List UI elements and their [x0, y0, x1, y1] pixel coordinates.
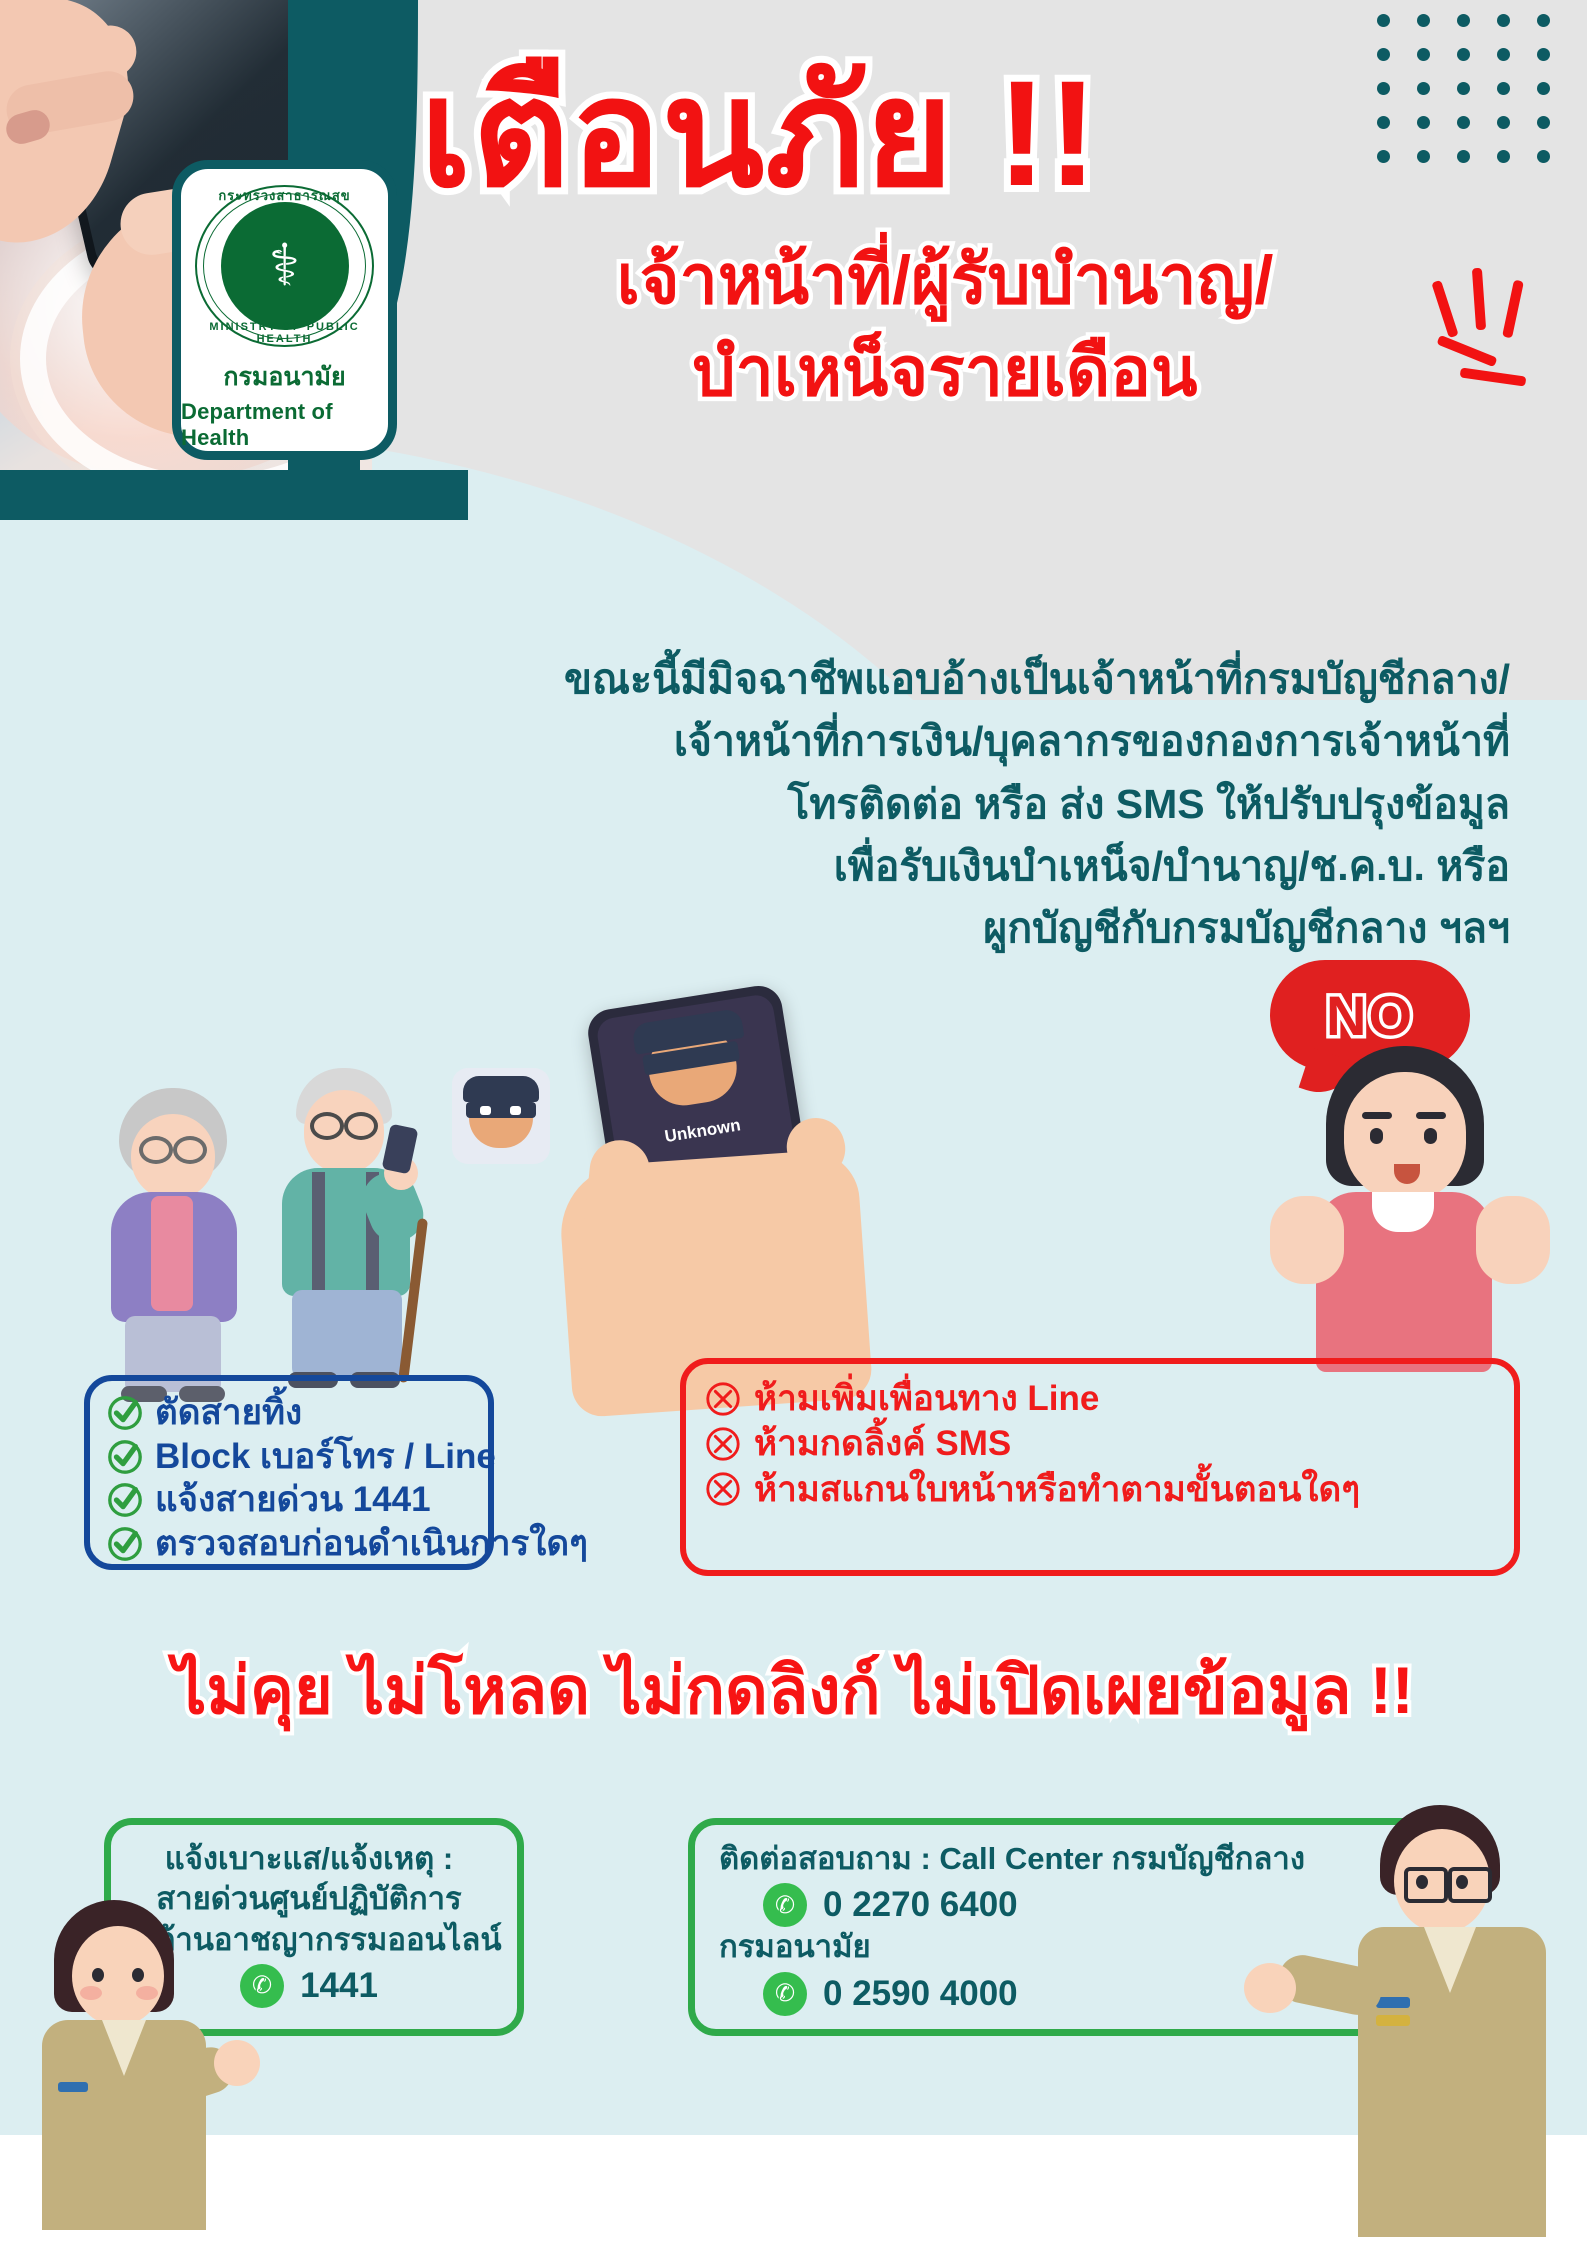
body-line-3: โทรติดต่อ หรือ ส่ง SMS ให้ปรับปรุงข้อมูล	[330, 773, 1510, 835]
refusing-woman-hand-right	[1476, 1196, 1550, 1284]
officer-male-glasses-right	[1448, 1867, 1492, 1903]
do-list-item: Block เบอร์โทร / Line	[106, 1437, 478, 1478]
officer-male-badge-2	[1376, 2015, 1410, 2026]
do-list-label: ตรวจสอบก่อนดำเนินการใดๆ	[155, 1524, 588, 1565]
officer-male-figure	[1300, 1805, 1580, 2235]
officer-female-eye-left	[92, 1968, 104, 1982]
phone-icon: ✆	[763, 1883, 807, 1927]
officer-female-eye-right	[132, 1968, 144, 1982]
elderly-man-glasses-right	[344, 1112, 378, 1140]
check-icon	[106, 1525, 144, 1563]
do-list-label: ตัดสายทิ้ง	[155, 1393, 302, 1434]
elderly-woman-figure	[95, 1088, 255, 1388]
officer-male-pointing-hand	[1244, 1963, 1296, 2013]
dont-list-box: ห้ามเพิ่มเพื่อนทาง Line ห้ามกดลิ้งค์ SMS…	[680, 1358, 1520, 1576]
refusing-woman-eye-left	[1370, 1128, 1383, 1144]
seal-arc-top-label: กระทรวงสาธารณสุข	[197, 185, 372, 206]
body-line-2: เจ้าหน้าที่การเงิน/บุคลากรของกองการเจ้าห…	[330, 710, 1510, 772]
ban-icon	[704, 1380, 742, 1418]
phone-icon: ✆	[763, 1972, 807, 2016]
department-name-thai: กรมอนามัย	[223, 357, 345, 397]
ministry-seal: กระทรวงสาธารณสุข ⚕ MINISTRY OF PUBLIC HE…	[195, 185, 374, 347]
subtitle-line-2: บำเหน็จรายเดือน	[430, 327, 1460, 419]
callcenter-phone-1: 0 2270 6400	[823, 1885, 1018, 1925]
dont-list-item: ห้ามเพิ่มเพื่อนทาง Line	[704, 1378, 1504, 1419]
officer-female-cheek-right	[136, 1986, 158, 2000]
check-icon	[106, 1394, 144, 1432]
elderly-man-suspender-left	[312, 1172, 325, 1292]
officer-female-pointing-hand	[214, 2040, 260, 2086]
body-line-5: ผูกบัญชีกับกรมบัญชีกลาง ฯลฯ	[330, 897, 1510, 959]
ban-icon	[704, 1425, 742, 1463]
officer-male-glasses-left	[1404, 1867, 1448, 1903]
subtitle-line-1: เจ้าหน้าที่/ผู้รับบำนาญ/	[430, 235, 1460, 327]
do-list-label: Block เบอร์โทร / Line	[155, 1437, 496, 1478]
do-list-box: ตัดสายทิ้ง Block เบอร์โทร / Line แจ้งสาย…	[84, 1375, 494, 1570]
body-paragraph: ขณะนี้มีมิจฉาชีพแอบอ้างเป็นเจ้าหน้าที่กร…	[330, 648, 1545, 960]
seal-arc-bottom-label: MINISTRY OF PUBLIC HEALTH	[197, 321, 372, 345]
body-line-4: เพื่อรับเงินบำเหน็จ/บำนาญ/ช.ค.บ. หรือ	[330, 835, 1510, 897]
department-name-english: Department of Health	[181, 399, 388, 451]
dont-list-label: ห้ามสแกนใบหน้าหรือทำตามขั้นตอนใดๆ	[754, 1469, 1360, 1510]
check-icon	[106, 1438, 144, 1476]
body-line-1: ขณะนี้มีมิจฉาชีพแอบอ้างเป็นเจ้าหน้าที่กร…	[330, 648, 1510, 710]
refusing-woman-eye-right	[1424, 1128, 1437, 1144]
refusing-woman-figure: NO	[1240, 960, 1570, 1410]
officer-male-badge-1	[1376, 1997, 1410, 2008]
scammer-avatar-bubble	[452, 1068, 550, 1164]
seal-ring	[203, 193, 366, 339]
dont-list-item: ห้ามกดลิ้งค์ SMS	[704, 1423, 1504, 1464]
officer-female-cheek-left	[80, 1986, 102, 2000]
slogan-text: ไม่คุย ไม่โหลด ไม่กดลิงก์ ไม่เปิดเผยข้อม…	[0, 1638, 1587, 1743]
dont-list-label: ห้ามกดลิ้งค์ SMS	[754, 1423, 1011, 1464]
caller-id-label: Unknown	[663, 1115, 742, 1147]
incoming-call-illustration: Unknown ✕ ✓	[555, 990, 885, 1410]
refusing-woman-eyebrow-right	[1416, 1112, 1446, 1119]
elderly-woman-glasses-left	[139, 1136, 173, 1164]
elderly-man-figure	[258, 1068, 448, 1388]
elderly-woman-scarf	[151, 1196, 193, 1311]
dont-list-item: ห้ามสแกนใบหน้าหรือทำตามขั้นตอนใดๆ	[704, 1469, 1504, 1510]
elderly-man-legs	[292, 1290, 402, 1378]
page-title: เตือนภัย !!	[420, 58, 1440, 208]
refusing-woman-hand-left	[1270, 1196, 1344, 1284]
elderly-man-glasses-left	[310, 1112, 344, 1140]
ministry-logo-badge: กระทรวงสาธารณสุข ⚕ MINISTRY OF PUBLIC HE…	[172, 160, 397, 460]
elderly-woman-glasses-right	[173, 1136, 207, 1164]
scammer-eye-right	[510, 1106, 521, 1115]
refusing-woman-eyebrow-left	[1362, 1112, 1392, 1119]
do-list-label: แจ้งสายด่วน 1441	[155, 1480, 431, 1521]
dont-list-label: ห้ามเพิ่มเพื่อนทาง Line	[754, 1378, 1099, 1419]
check-icon	[106, 1481, 144, 1519]
callcenter-phone-2: 0 2590 4000	[823, 1974, 1018, 2014]
do-list-item: ตรวจสอบก่อนดำเนินการใดๆ	[106, 1524, 478, 1565]
do-list-item: แจ้งสายด่วน 1441	[106, 1480, 478, 1521]
ban-icon	[704, 1470, 742, 1508]
no-label: NO	[1326, 983, 1414, 1048]
poster-canvas: กระทรวงสาธารณสุข ⚕ MINISTRY OF PUBLIC HE…	[0, 0, 1587, 2245]
illustration-row: Unknown ✕ ✓ NO	[0, 1030, 1587, 1400]
subtitle: เจ้าหน้าที่/ผู้รับบำนาญ/ บำเหน็จรายเดือน	[430, 235, 1460, 419]
scammer-cap-icon	[463, 1076, 539, 1102]
report-hotline-number: 1441	[300, 1966, 378, 2006]
report-contact-line-1: แจ้งเบาะแส/แจ้งเหตุ :	[111, 1839, 507, 1879]
officer-female-badge	[58, 2082, 88, 2092]
scammer-eye-left	[480, 1106, 491, 1115]
caller-avatar	[643, 1020, 742, 1111]
officer-female-face	[72, 1926, 164, 2026]
officer-female-figure	[18, 1900, 248, 2230]
do-list-item: ตัดสายทิ้ง	[106, 1393, 478, 1434]
scammer-eyemask-icon	[466, 1102, 536, 1118]
